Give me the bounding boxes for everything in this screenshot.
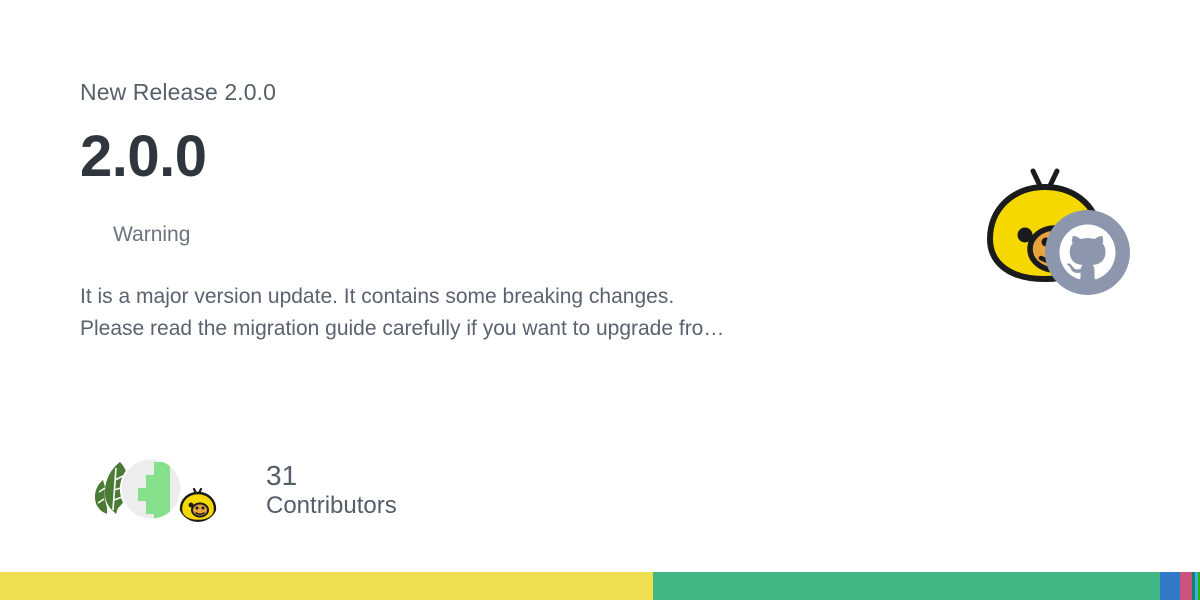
- language-bar-segment-pink: [1180, 572, 1192, 600]
- warning-callout: Warning: [80, 191, 940, 248]
- avatar[interactable]: [178, 482, 218, 522]
- contributor-count: 31: [266, 459, 397, 492]
- release-body-text: It is a major version update. It contain…: [80, 248, 940, 346]
- warning-callout-title: Warning: [113, 221, 940, 248]
- contribution-graph-icon: [120, 458, 182, 520]
- language-bar-segment-yellow: [0, 572, 653, 600]
- language-bar-segment-blue: [1160, 572, 1179, 600]
- chick-icon: [178, 482, 218, 522]
- contributor-label: Contributors: [266, 492, 397, 520]
- language-bar: [0, 572, 1200, 600]
- contributor-count-block: 31 Contributors: [266, 459, 397, 520]
- hero-artwork: [983, 165, 1148, 305]
- contributor-avatar-stack: [92, 450, 242, 530]
- language-bar-segment-green: [653, 572, 1161, 600]
- contributors-section: 31 Contributors: [92, 450, 397, 530]
- release-card: New Release 2.0.0 2.0.0 Warning It is a …: [0, 0, 1200, 600]
- avatar[interactable]: [120, 458, 182, 520]
- release-eyebrow: New Release 2.0.0: [80, 78, 940, 108]
- release-content: New Release 2.0.0 2.0.0 Warning It is a …: [80, 78, 940, 346]
- release-version-title: 2.0.0: [80, 108, 940, 191]
- github-logo-icon[interactable]: [1045, 210, 1130, 295]
